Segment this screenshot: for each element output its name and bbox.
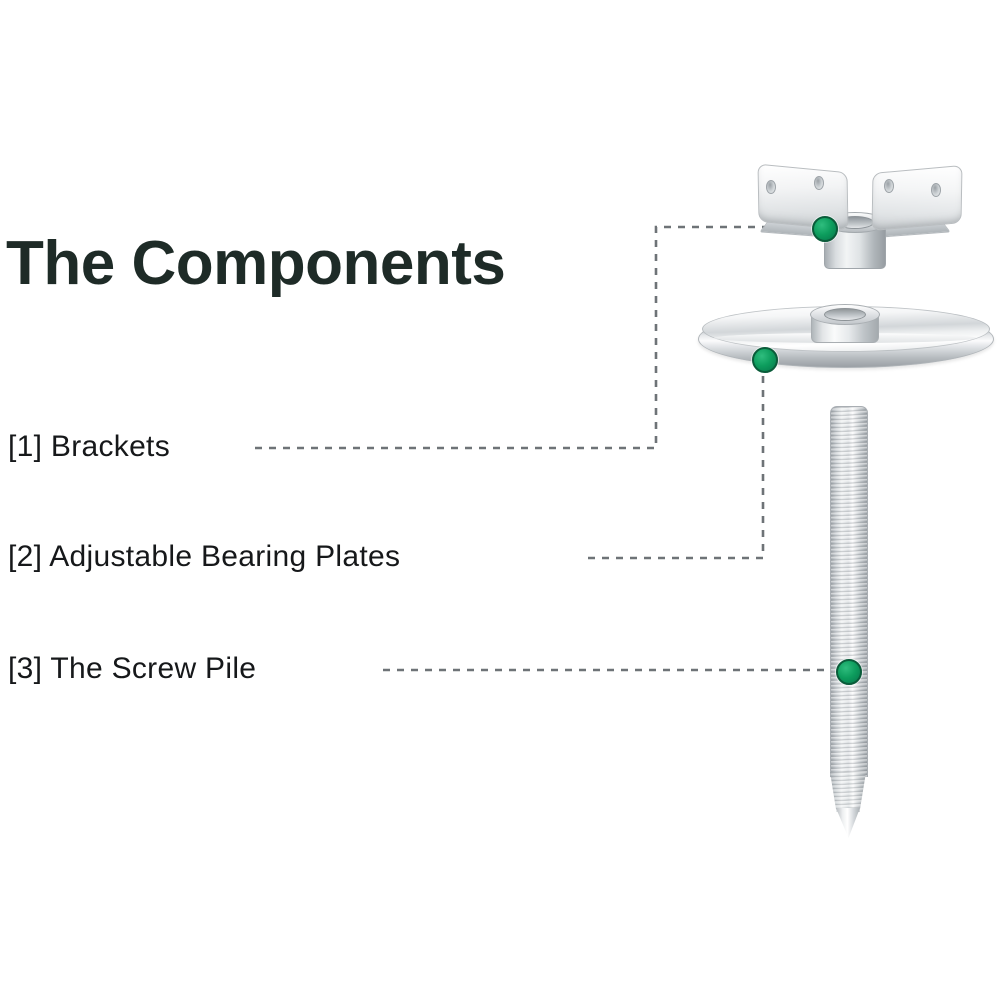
bracket-bolt-hole <box>814 176 824 190</box>
screw-pile-taper <box>830 772 866 812</box>
bracket-assembly <box>752 160 982 285</box>
screw-pile <box>830 406 870 830</box>
bearing-plate <box>698 302 992 374</box>
bearing-plate-hub-bore <box>824 308 866 321</box>
bracket-bolt-hole <box>766 180 776 194</box>
marker-dot-brackets <box>812 216 838 242</box>
marker-dot-screw-pile <box>836 659 862 685</box>
illustration <box>0 0 1000 1000</box>
bracket-plate-right <box>872 165 963 231</box>
bracket-bolt-hole <box>931 183 941 197</box>
screw-pile-tip <box>836 808 860 838</box>
bracket-bolt-hole <box>884 179 894 193</box>
screw-pile-shaft <box>830 406 868 777</box>
component-diagram: The Components [1] Brackets [2] Adjustab… <box>0 0 1000 1000</box>
marker-dot-bearing-plate <box>752 347 778 373</box>
